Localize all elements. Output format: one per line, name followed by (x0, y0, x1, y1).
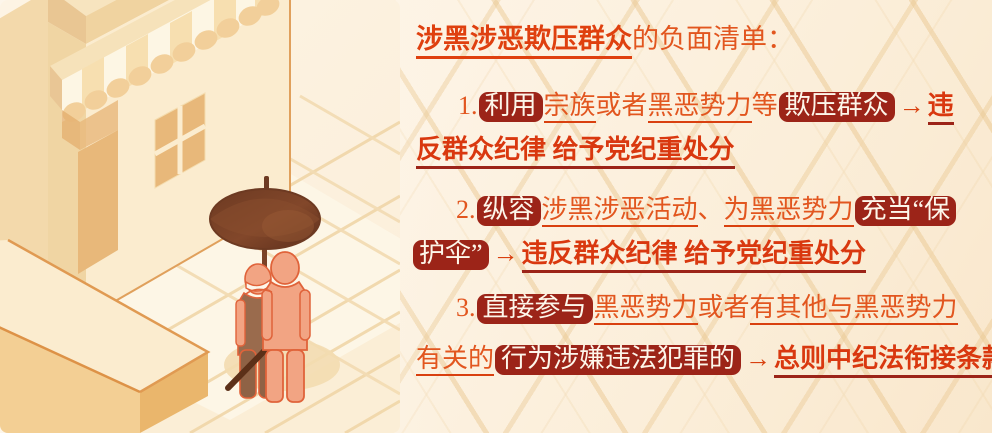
conclusion-3: 总则中纪法衔接条款 (774, 344, 992, 378)
underline-heieshili: 黑恶势力 (648, 91, 752, 123)
conclusion-1-part-a: 违 (928, 91, 954, 125)
list-item-3-line-1: 3.直接参与黑恶势力或者有其他与黑恶势力 (456, 294, 958, 324)
list-number-1: 1. (458, 91, 478, 120)
title-rest: 的负面清单： (632, 24, 794, 54)
list-item-2-line-1: 2.纵容涉黑涉恶活动、为黑恶势力充当“保 (456, 196, 957, 226)
conclusion-2: 违反群众纪律 给予党纪重处分 (522, 239, 867, 273)
plain-huozhe-2: 或者 (698, 293, 750, 322)
list-item-1-line-1: 1.利用宗族或者黑恶势力等欺压群众→违 (458, 92, 954, 122)
underline-heieshili-2: 黑恶势力 (594, 293, 698, 325)
badge-zongrong: 纵容 (477, 196, 541, 226)
underline-weiheieshili: 为黑恶势力 (724, 195, 854, 227)
badge-husan: 护伞” (413, 240, 489, 270)
underline-shehei-huodong: 涉黑涉恶活动 (542, 195, 698, 227)
plain-dunhao: 、 (698, 195, 724, 224)
badge-qiyaqunzhong: 欺压群众 (779, 92, 895, 122)
plain-deng: 等 (752, 91, 778, 120)
poster-canvas: 涉黑涉恶欺压群众的负面清单： 1.利用宗族或者黑恶势力等欺压群众→违 反群众纪律… (0, 0, 992, 433)
isometric-street-illustration (0, 0, 400, 433)
underline-zongzu: 宗族 (544, 91, 596, 123)
title-emphasis: 涉黑涉恶欺压群众 (416, 24, 632, 59)
badge-chongdang-bao: 充当“保 (855, 196, 957, 226)
underline-youguande: 有关的 (416, 344, 494, 376)
list-item-2-line-2: 护伞”→违反群众纪律 给予党纪重处分 (412, 240, 866, 270)
badge-zhijiecanyu: 直接参与 (477, 294, 593, 324)
list-number-3: 3. (456, 293, 476, 322)
arrow-icon-2: → (490, 239, 522, 268)
badge-liyong: 利用 (479, 92, 543, 122)
plain-huozhe: 或者 (596, 91, 648, 120)
arrow-icon-1: → (896, 91, 928, 120)
arrow-icon-3: → (742, 344, 774, 373)
page-title: 涉黑涉恶欺压群众的负面清单： (416, 26, 794, 53)
list-item-1-line-2: 反群众纪律 给予党纪重处分 (416, 137, 735, 163)
list-number-2: 2. (456, 195, 476, 224)
list-item-3-line-2: 有关的行为涉嫌违法犯罪的→总则中纪法衔接条款 (416, 345, 992, 375)
door (78, 130, 118, 274)
badge-xingwei-shexian: 行为涉嫌违法犯罪的 (495, 345, 741, 375)
text-column: 涉黑涉恶欺压群众的负面清单： 1.利用宗族或者黑恶势力等欺压群众→违 反群众纪律… (398, 0, 992, 433)
conclusion-1-part-b: 反群众纪律 给予党纪重处分 (416, 135, 735, 169)
underline-youqita: 有其他与黑恶势力 (750, 293, 958, 325)
